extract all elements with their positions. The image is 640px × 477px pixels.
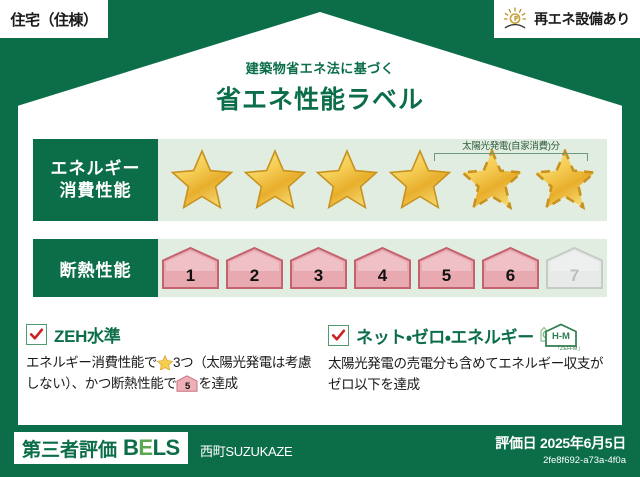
- label-title-main: 省エネ性能ラベル: [0, 80, 640, 116]
- bels-letter-b: B: [123, 435, 138, 460]
- insulation-level-7: 7: [544, 246, 605, 290]
- insulation-level-number: 2: [224, 266, 285, 286]
- inline-star-icon: [157, 355, 173, 371]
- energy-performance-label: 住宅（住棟） 再エネ設備あり 建築物省エネ法に基づく: [0, 0, 640, 477]
- zeh-m-logo-caption: 「ZEH-M」: [555, 344, 583, 352]
- insulation-label-text: 断熱性能: [60, 256, 132, 281]
- net-zero-statement-title: ネット・ゼロ・エネルギー: [356, 323, 534, 348]
- inline-insulation-badge-number: 5: [176, 382, 198, 392]
- zeh-body-post: を達成: [198, 376, 237, 391]
- insulation-level-number: 6: [480, 266, 541, 286]
- zeh-statement-body: エネルギー消費性能で3つ（太陽光発電は考慮しない）、かつ断熱性能で5を達成: [26, 353, 312, 395]
- solar-annotation-brace: [434, 153, 588, 161]
- insulation-level-5: 5: [416, 246, 477, 290]
- energy-performance-row: エネルギー 消費性能 太陽光発電(自家消費)分: [33, 139, 607, 221]
- star-icon-filled: [170, 149, 234, 211]
- insulation-level-6: 6: [480, 246, 541, 290]
- label-title-sub: 建築物省エネ法に基づく: [0, 58, 640, 77]
- evaluation-date-label: 評価日: [495, 435, 536, 451]
- star-icon-filled: [243, 149, 307, 211]
- zeh-statement-title: ZEH水準: [54, 322, 121, 347]
- bels-badge: 第三者評価 BELS: [14, 432, 188, 464]
- renewable-chip-label: 再エネ設備あり: [534, 9, 630, 29]
- zeh-statement-header: ZEH水準: [26, 322, 312, 347]
- insulation-level-number: 4: [352, 266, 413, 286]
- zeh-m-logo-icon: H-M 「ZEH-M」: [539, 322, 579, 348]
- insulation-performance-row: 断熱性能 1234567: [33, 239, 607, 297]
- insulation-level-number: 1: [160, 266, 221, 286]
- net-zero-statement-body: 太陽光発電の売電分も含めてエネルギー収支がゼロ以下を達成: [328, 354, 614, 396]
- net-zero-statement-header: ネット・ゼロ・エネルギー H-M 「ZEH-M」: [328, 322, 614, 348]
- net-zero-energy-statement: ネット・ゼロ・エネルギー H-M 「ZEH-M」 太陽光発電の売電分も含めてエネ…: [328, 322, 614, 396]
- insulation-level-2: 2: [224, 246, 285, 290]
- check-icon: [328, 325, 349, 346]
- evaluation-date: 評価日 2025年6月5日: [495, 433, 626, 453]
- insulation-levels-area: 1234567: [158, 239, 607, 297]
- bels-badge-jp: 第三者評価: [22, 435, 117, 462]
- zeh-statement: ZEH水準 エネルギー消費性能で3つ（太陽光発電は考慮しない）、かつ断熱性能で5…: [26, 322, 312, 395]
- bels-letter-ls: LS: [153, 435, 180, 460]
- insulation-level-3: 3: [288, 246, 349, 290]
- building-name: 西町SUZUKAZE: [200, 441, 292, 460]
- insulation-level-4: 4: [352, 246, 413, 290]
- evaluation-date-value: 2025年6月5日: [540, 435, 626, 451]
- insulation-level-1: 1: [160, 246, 221, 290]
- svg-text:H-M: H-M: [552, 331, 570, 342]
- evaluation-id: 2fe8f692-a73a-4f0a: [495, 455, 626, 466]
- insulation-level-scale: 1234567: [166, 239, 599, 297]
- category-chip-label: 住宅（住棟）: [10, 9, 97, 30]
- check-icon: [26, 324, 47, 345]
- solar-consumption-annotation: 太陽光発電(自家消費)分: [421, 138, 601, 161]
- label-footer: 第三者評価 BELS 西町SUZUKAZE 評価日 2025年6月5日 2fe8…: [0, 425, 640, 477]
- renewable-equipment-chip: 再エネ設備あり: [494, 0, 640, 38]
- insulation-level-number: 7: [544, 266, 605, 286]
- bels-letter-e: E: [138, 435, 152, 460]
- solar-annotation-label: 太陽光発電(自家消費)分: [421, 138, 601, 152]
- evaluation-info: 評価日 2025年6月5日 2fe8f692-a73a-4f0a: [495, 433, 626, 466]
- energy-label-line2: 消費性能: [60, 180, 132, 202]
- zeh-body-pre: エネルギー消費性能で: [26, 355, 157, 370]
- star-icon-filled: [315, 149, 379, 211]
- category-chip: 住宅（住棟）: [0, 0, 108, 38]
- bels-badge-en: BELS: [123, 435, 180, 461]
- inline-insulation-badge: 5: [176, 375, 198, 392]
- sun-icon: [502, 7, 528, 31]
- energy-label-line1: エネルギー: [51, 158, 141, 180]
- insulation-level-number: 3: [288, 266, 349, 286]
- label-title: 建築物省エネ法に基づく 省エネ性能ラベル: [0, 58, 640, 116]
- insulation-row-label: 断熱性能: [33, 239, 158, 297]
- energy-stars-area: 太陽光発電(自家消費)分: [158, 139, 607, 221]
- insulation-level-number: 5: [416, 266, 477, 286]
- energy-performance-row-label: エネルギー 消費性能: [33, 139, 158, 221]
